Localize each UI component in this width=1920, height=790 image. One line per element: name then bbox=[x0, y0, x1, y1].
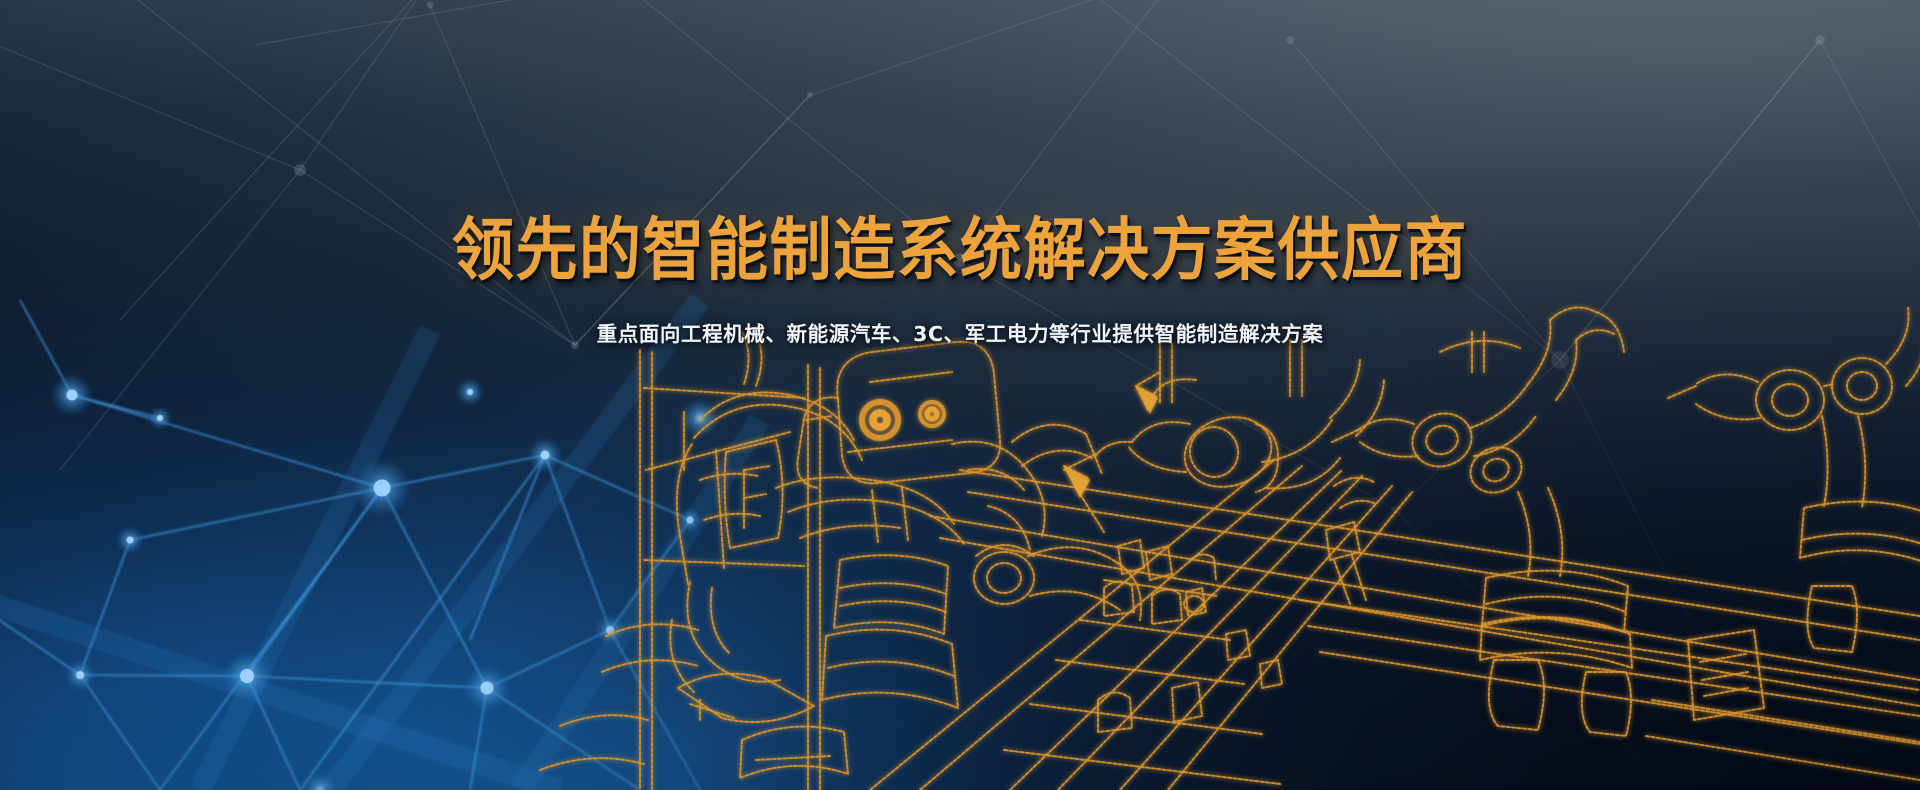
background-vignette bbox=[0, 0, 1920, 790]
hero-banner: 领先的智能制造系统解决方案供应商 重点面向工程机械、新能源汽车、3C、军工电力等… bbox=[0, 0, 1920, 790]
